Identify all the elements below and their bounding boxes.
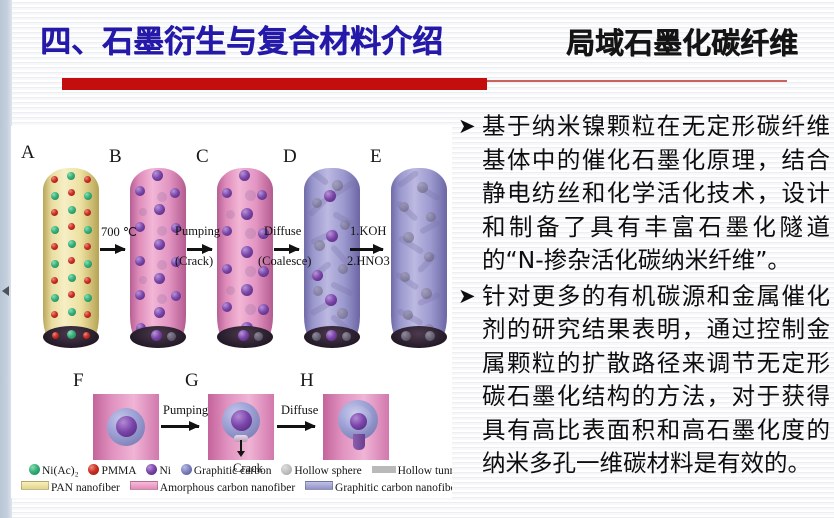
arrow-c-to-d [274,248,299,251]
figure-label-d: D [283,146,297,168]
title-divider-line [487,80,787,82]
step-label-b-to-c: Pumping [175,224,220,239]
detail-panel-f [93,394,159,460]
legend-label-pan-nanofiber: PAN nanofiber [51,482,120,494]
title-divider-bar [62,78,487,90]
legend-label-ni-ac2: Ni(Ac)₂ [42,465,79,477]
schematic-figure: A B C D E [11,126,452,498]
figure-label-g: G [185,370,199,392]
legend-label-graphitic-carbon: Graphitic carbon [194,465,272,477]
arrow-b-to-c [187,248,212,251]
legend-label-hollow-tunnel: Hollow tunnel [398,465,452,477]
detail-panel-h [323,394,389,460]
graphitic-texture-e [391,168,447,346]
figure-label-a: A [21,142,35,164]
legend-item-graphitic-carbon: Graphitic carbon [181,464,272,477]
figure-label-b: B [109,146,122,168]
legend-dot-graphitic-carbon-icon [181,464,192,475]
bullet-text-2: 针对更多的有机碳源和金属催化剂的研究结果表明，通过控制金属颗粒的扩散路径来调节无… [482,282,830,478]
slide-canvas: 四、石墨衍生与复合材料介绍 局域石墨化碳纤维 A B C D E [0,0,834,518]
legend-item-graphitic-carbon-nanofiber: Graphitic carbon nanofiber [305,481,452,494]
figure-legend: Ni(Ac)₂ PMMA Ni Graphitic carbon Hollow … [11,464,452,498]
step-label-d-to-e-2: 2.HNO3 [347,254,390,269]
legend-bar-amorphous-carbon-nanofiber-icon [130,481,158,490]
figure-label-c: C [196,146,209,168]
legend-bar-hollow-tunnel-icon [372,466,396,473]
figure-label-h: H [300,370,314,392]
fiber-e-activated [391,168,447,346]
bullet-marker-2-icon: ➤ [458,280,476,314]
legend-dot-pmma-icon [88,464,99,475]
legend-bar-pan-nanofiber-icon [21,481,49,490]
bullet-marker-1-icon: ➤ [458,110,476,144]
detail-panel-g [208,394,274,460]
step-sublabel-b-to-c: (Crack) [175,254,213,269]
legend-row-1: Ni(Ac)₂ PMMA Ni Graphitic carbon Hollow … [11,464,452,477]
left-edge-marker-icon [2,286,9,296]
page-title: 四、石墨衍生与复合材料介绍 [40,22,443,62]
step-label-a-to-b: 700 ℃ [101,224,137,240]
figure-label-f: F [73,370,84,392]
content-bullets: ➤ 基于纳米镍颗粒在无定形碳纤维基体中的催化石墨化原理，结合静电纺丝和化学活化技… [458,110,830,510]
slide-header: 四、石墨衍生与复合材料介绍 局域石墨化碳纤维 [0,0,834,100]
arrow-f-to-g [161,425,199,428]
legend-label-graphitic-carbon-nanofiber: Graphitic carbon nanofiber [335,482,452,494]
fiber-a-pan [43,168,99,346]
step-label-f-to-g: Pumping [163,403,208,418]
bullet-item-1: ➤ 基于纳米镍颗粒在无定形碳纤维基体中的催化石墨化原理，结合静电纺丝和化学活化技… [458,110,830,278]
bullet-item-2: ➤ 针对更多的有机碳源和金属催化剂的研究结果表明，通过控制金属颗粒的扩散路径来调… [458,280,830,481]
step-label-d-to-e-1: 1.KOH [350,224,386,239]
bullet-text-1: 基于纳米镍颗粒在无定形碳纤维基体中的催化石墨化原理，结合静电纺丝和化学活化技术，… [482,112,830,274]
page-subtitle: 局域石墨化碳纤维 [566,24,798,62]
figure-label-e: E [370,146,382,168]
legend-label-ni: Ni [159,465,171,477]
legend-label-pmma: PMMA [101,465,136,477]
arrow-a-to-b [100,248,125,251]
legend-item-ni: Ni [146,464,171,477]
legend-item-pan-nanofiber: PAN nanofiber [21,481,120,494]
legend-dot-hollow-sphere-icon [281,464,292,475]
legend-item-ni-ac2: Ni(Ac)₂ [29,464,79,477]
legend-bar-graphitic-carbon-nanofiber-icon [305,481,333,490]
legend-item-hollow-tunnel: Hollow tunnel [372,465,452,477]
legend-dot-ni-icon [146,464,157,475]
legend-dot-ni-ac2-icon [29,464,40,475]
legend-item-amorphous-carbon-nanofiber: Amorphous carbon nanofiber [130,481,295,494]
arrow-g-to-h [277,425,315,428]
legend-label-hollow-sphere: Hollow sphere [294,465,361,477]
step-label-c-to-d: Diffuse [264,224,301,239]
legend-item-hollow-sphere: Hollow sphere [281,464,361,477]
legend-label-amorphous-carbon-nanofiber: Amorphous carbon nanofiber [160,482,295,494]
legend-row-2: PAN nanofiber Amorphous carbon nanofiber… [11,481,452,494]
arrow-d-to-e [350,248,383,251]
legend-item-pmma: PMMA [88,464,136,477]
step-sublabel-c-to-d: (Coalesce) [258,254,311,269]
step-label-g-to-h: Diffuse [281,403,318,418]
